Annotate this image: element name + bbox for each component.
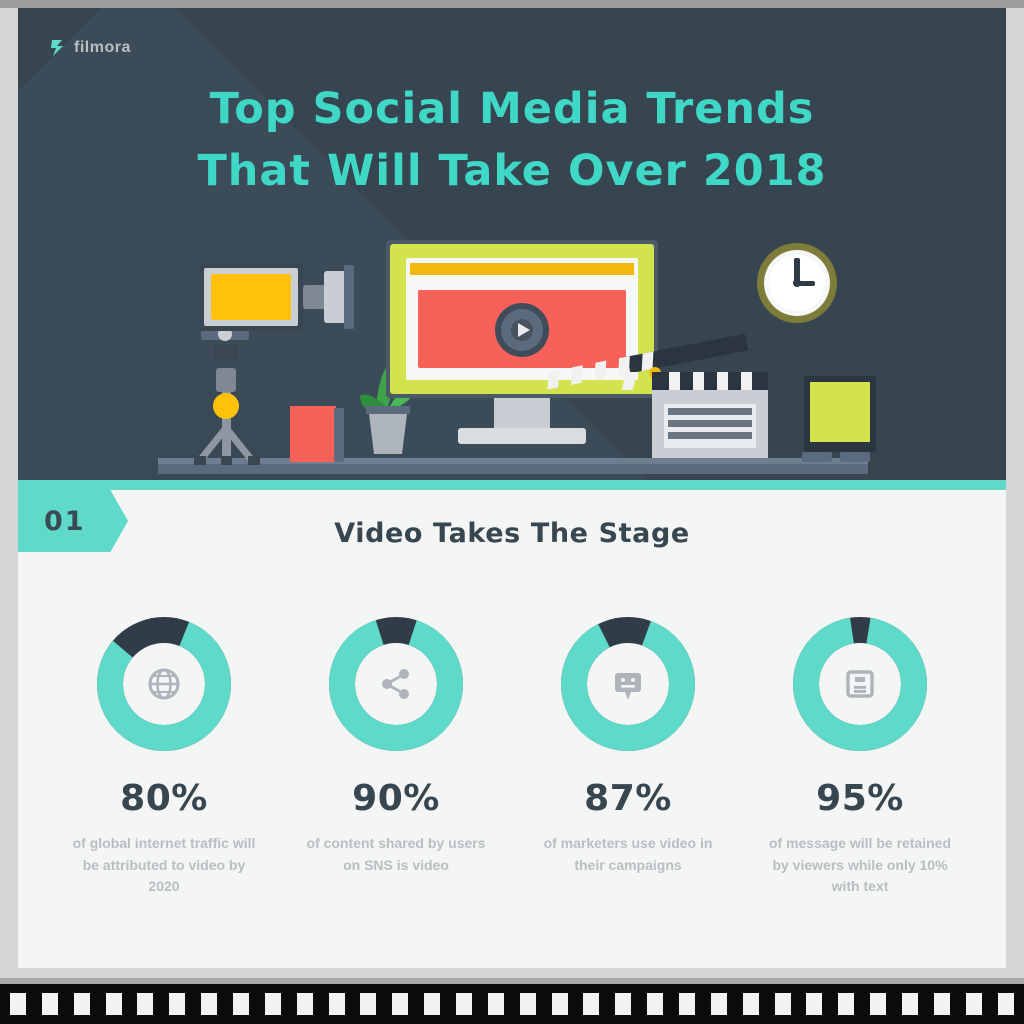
film-perforation [806,993,822,1015]
stat-caption: of marketers use video in their campaign… [533,833,723,876]
film-perforation [169,993,185,1015]
film-perforation [201,993,217,1015]
film-perforation [711,993,727,1015]
film-perforation [360,993,376,1015]
infographic-page: filmora Top Social Media Trends That Wil… [0,0,1024,1024]
film-perforation [297,993,313,1015]
hero-section: filmora Top Social Media Trends That Wil… [18,8,1006,480]
film-perforation [775,993,791,1015]
teal-divider-band [18,480,1006,490]
stat-percentage: 87% [584,778,672,819]
stat-caption: of global internet traffic will be attri… [69,833,259,898]
film-perforation [488,993,504,1015]
film-perforation [998,993,1014,1015]
film-perforation [74,993,90,1015]
title-line-2: That Will Take Over 2018 [18,140,1006,202]
stat-card: 90% of content shared by users on SNS is… [280,612,512,898]
film-perforation [647,993,663,1015]
film-perforation [10,993,26,1015]
film-perforation [520,993,536,1015]
film-perforation [615,993,631,1015]
globe-icon [92,612,236,756]
stat-card: 80% of global internet traffic will be a… [48,612,280,898]
donut-chart-3 [556,612,700,756]
stat-caption: of message will be retained by viewers w… [765,833,955,898]
top-rail [0,0,1024,8]
donut-chart-4 [788,612,932,756]
film-perforation [743,993,759,1015]
monitor-with-video-player-icon [386,240,658,444]
film-perforation [137,993,153,1015]
section-title: Video Takes The Stage [18,518,1006,549]
film-perforation [424,993,440,1015]
film-perforation [838,993,854,1015]
donut-chart-2 [324,612,468,756]
film-perforation [679,993,695,1015]
stat-card: 87% of marketers use video in their camp… [512,612,744,898]
title-line-1: Top Social Media Trends [18,78,1006,140]
film-perforation [552,993,568,1015]
stat-percentage: 90% [352,778,440,819]
film-perforation [934,993,950,1015]
archive-box-icon [788,612,932,756]
stats-row: 80% of global internet traffic will be a… [48,612,976,898]
share-icon [324,612,468,756]
wall-clock-icon [757,243,837,323]
red-book-icon [290,406,344,462]
film-perforation [966,993,982,1015]
film-perforation [329,993,345,1015]
film-perforation [42,993,58,1015]
stat-percentage: 95% [816,778,904,819]
donut-chart-1 [92,612,236,756]
film-perforation [265,993,281,1015]
stat-caption: of content shared by users on SNS is vid… [301,833,491,876]
page-title: Top Social Media Trends That Will Take O… [18,78,1006,203]
film-strip-footer [0,978,1024,1024]
film-perforation [233,993,249,1015]
chat-bubble-icon [556,612,700,756]
film-perforation [902,993,918,1015]
brand-name: filmora [74,39,131,57]
filmora-logo-icon [50,38,66,58]
film-perforation [583,993,599,1015]
film-perforation [456,993,472,1015]
film-perforation [106,993,122,1015]
laptop-icon [802,376,876,462]
content-section: 01 Video Takes The Stage [18,490,1006,968]
stat-card: 95% of message will be retained by viewe… [744,612,976,898]
brand-logo[interactable]: filmora [50,38,131,58]
stat-percentage: 80% [120,778,208,819]
film-perforation [870,993,886,1015]
film-perforation [392,993,408,1015]
